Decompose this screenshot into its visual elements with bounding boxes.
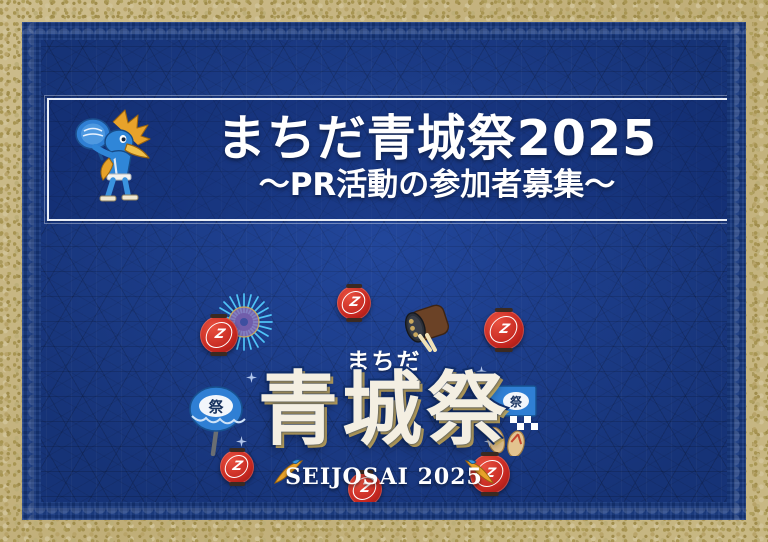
lantern-cap-bottom: [346, 318, 362, 322]
title-text-group: まちだ青城祭2025 〜PR活動の参加者募集〜: [153, 100, 721, 219]
scallop-edge-bottom: [22, 508, 746, 520]
lantern-z-mark: Z: [340, 291, 368, 314]
lantern-z-mark: Z: [488, 316, 521, 343]
poster-stage: まちだ青城祭2025 〜PR活動の参加者募集〜: [41, 40, 727, 502]
logo-romaji-seijosai: SEIJOSAI 2025: [184, 464, 584, 490]
poster-subtitle: 〜PR活動の参加者募集〜: [259, 168, 616, 204]
lantern-cap-top: [210, 314, 227, 318]
lantern-cap-top: [495, 308, 513, 312]
scallop-edge-left: [22, 22, 34, 520]
mascot-bird-icon: [67, 104, 153, 219]
logo-kanji-seijosai: 青城祭: [184, 370, 584, 450]
lantern-cap-bottom: [481, 492, 499, 496]
scallop-edge-right: [734, 22, 746, 520]
poster-canvas: まちだ青城祭2025 〜PR活動の参加者募集〜: [0, 0, 768, 542]
lantern-cap-top: [346, 284, 362, 288]
title-banner: まちだ青城祭2025 〜PR活動の参加者募集〜: [47, 98, 727, 221]
lantern-icon: Z: [337, 286, 371, 320]
scallop-edge-top: [22, 22, 746, 34]
poster-main-title: まちだ青城祭2025: [217, 114, 657, 164]
festival-logo-cluster: 祭 祭: [184, 286, 584, 496]
